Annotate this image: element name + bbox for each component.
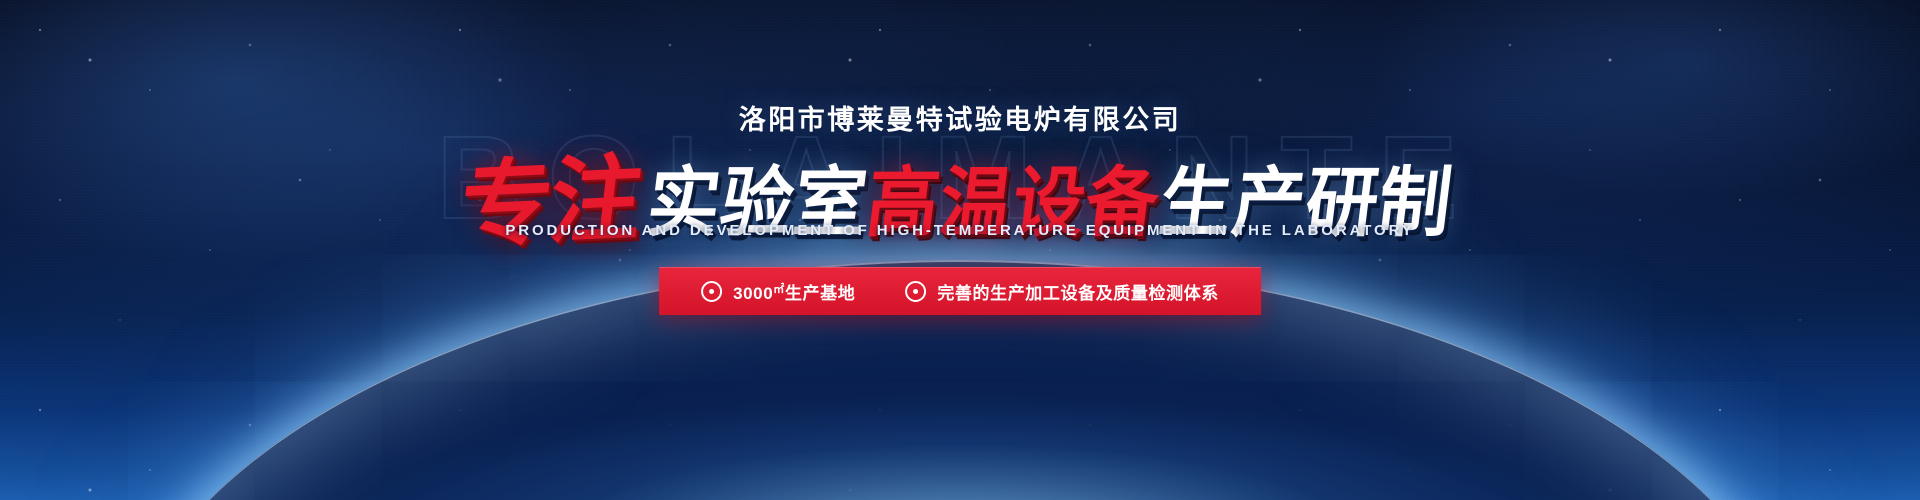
headline-brush-word: 专注 — [454, 121, 649, 266]
badge-area-suffix: 生产基地 — [785, 284, 855, 303]
banner-content: 洛阳市博莱曼特试验电炉有限公司 专注 实验室 高温设备 生产研制 PRODUCT… — [0, 0, 1920, 500]
hero-banner: BOLAIMANTE 洛阳市博莱曼特试验电炉有限公司 专注 实验室 高温设备 生… — [0, 0, 1920, 500]
company-name: 洛阳市博莱曼特试验电炉有限公司 — [0, 98, 1920, 137]
feature-badge-bar: 3000㎡生产基地 完善的生产加工设备及质量检测体系 — [659, 267, 1261, 315]
headline: 专注 实验室 高温设备 生产研制 — [0, 133, 1920, 258]
feature-badge-quality-label: 完善的生产加工设备及质量检测体系 — [937, 279, 1219, 304]
english-subtitle: PRODUCTION AND DEVELOPMENT OF HIGH-TEMPE… — [0, 222, 1920, 239]
feature-badge-area-label: 3000㎡生产基地 — [733, 279, 855, 304]
badge-area-value: 3000 — [733, 284, 773, 303]
target-circle-icon — [701, 281, 722, 302]
target-circle-icon — [905, 281, 926, 302]
badge-area-unit: ㎡ — [773, 283, 785, 295]
feature-badge-quality: 完善的生产加工设备及质量检测体系 — [905, 279, 1219, 304]
feature-badge-area: 3000㎡生产基地 — [701, 279, 855, 304]
